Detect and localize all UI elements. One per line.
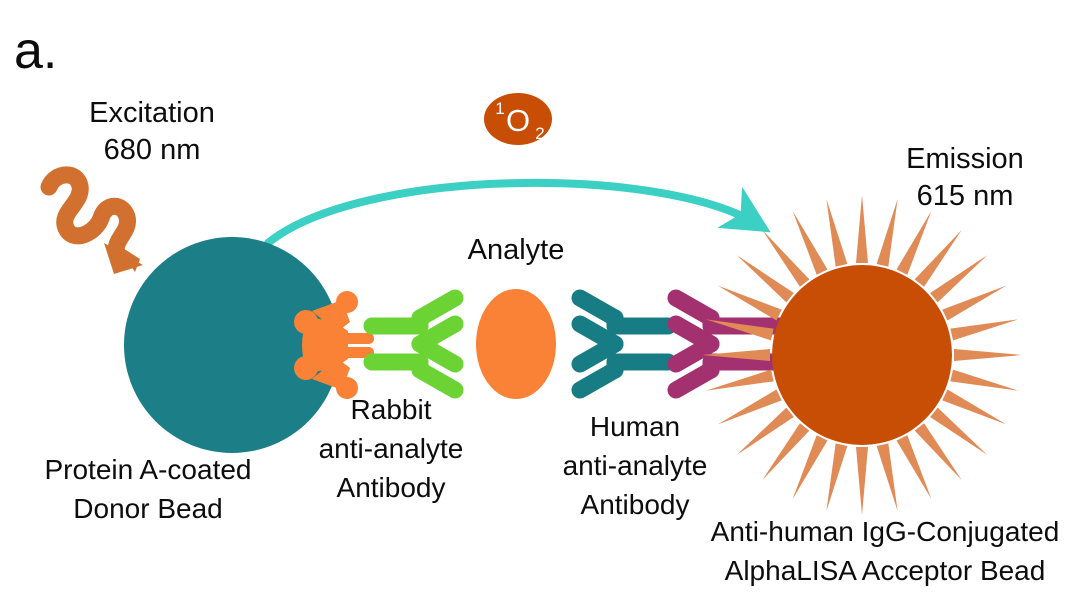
singlet-oxygen-element: O: [506, 103, 530, 138]
human-antibody-icon: [580, 298, 668, 390]
analyte-label: Analyte: [468, 234, 565, 266]
human-antibody-label-line2: anti-analyte: [563, 450, 708, 481]
singlet-oxygen-subscript: 2: [535, 124, 544, 143]
emission-label-line2: 615 nm: [917, 180, 1014, 212]
human-antibody-label-line3: Antibody: [581, 489, 690, 520]
excitation-label-line1: Excitation: [89, 97, 215, 129]
donor-bead-label-line2: Donor Bead: [73, 493, 222, 524]
rabbit-antibody-label-line3: Antibody: [337, 472, 446, 503]
excitation-label-line2: 680 nm: [104, 134, 201, 166]
rabbit-antibody-label-line1: Rabbit: [351, 394, 432, 425]
acceptor-bead-label-line1: Anti-human IgG-Conjugated: [711, 516, 1060, 547]
excitation-arrow-icon: [49, 175, 143, 274]
rabbit-antibody-icon: [372, 298, 455, 390]
emission-label-line1: Emission: [906, 143, 1024, 175]
donor-bead-label-line1: Protein A-coated: [44, 454, 251, 485]
acceptor-bead: [772, 265, 952, 445]
panel-label: a.: [14, 22, 57, 80]
rabbit-antibody-label-line2: anti-analyte: [319, 433, 464, 464]
singlet-oxygen-badge: 1 O 2: [484, 93, 552, 145]
acceptor-bead-label-line2: AlphaLISA Acceptor Bead: [725, 555, 1046, 586]
analyte-shape: [476, 289, 556, 399]
singlet-oxygen-superscript: 1: [495, 99, 504, 118]
figure-canvas: a. Excitation 680 nm 1 O 2 Emission 615 …: [0, 0, 1081, 593]
human-antibody-label-line1: Human: [590, 411, 680, 442]
